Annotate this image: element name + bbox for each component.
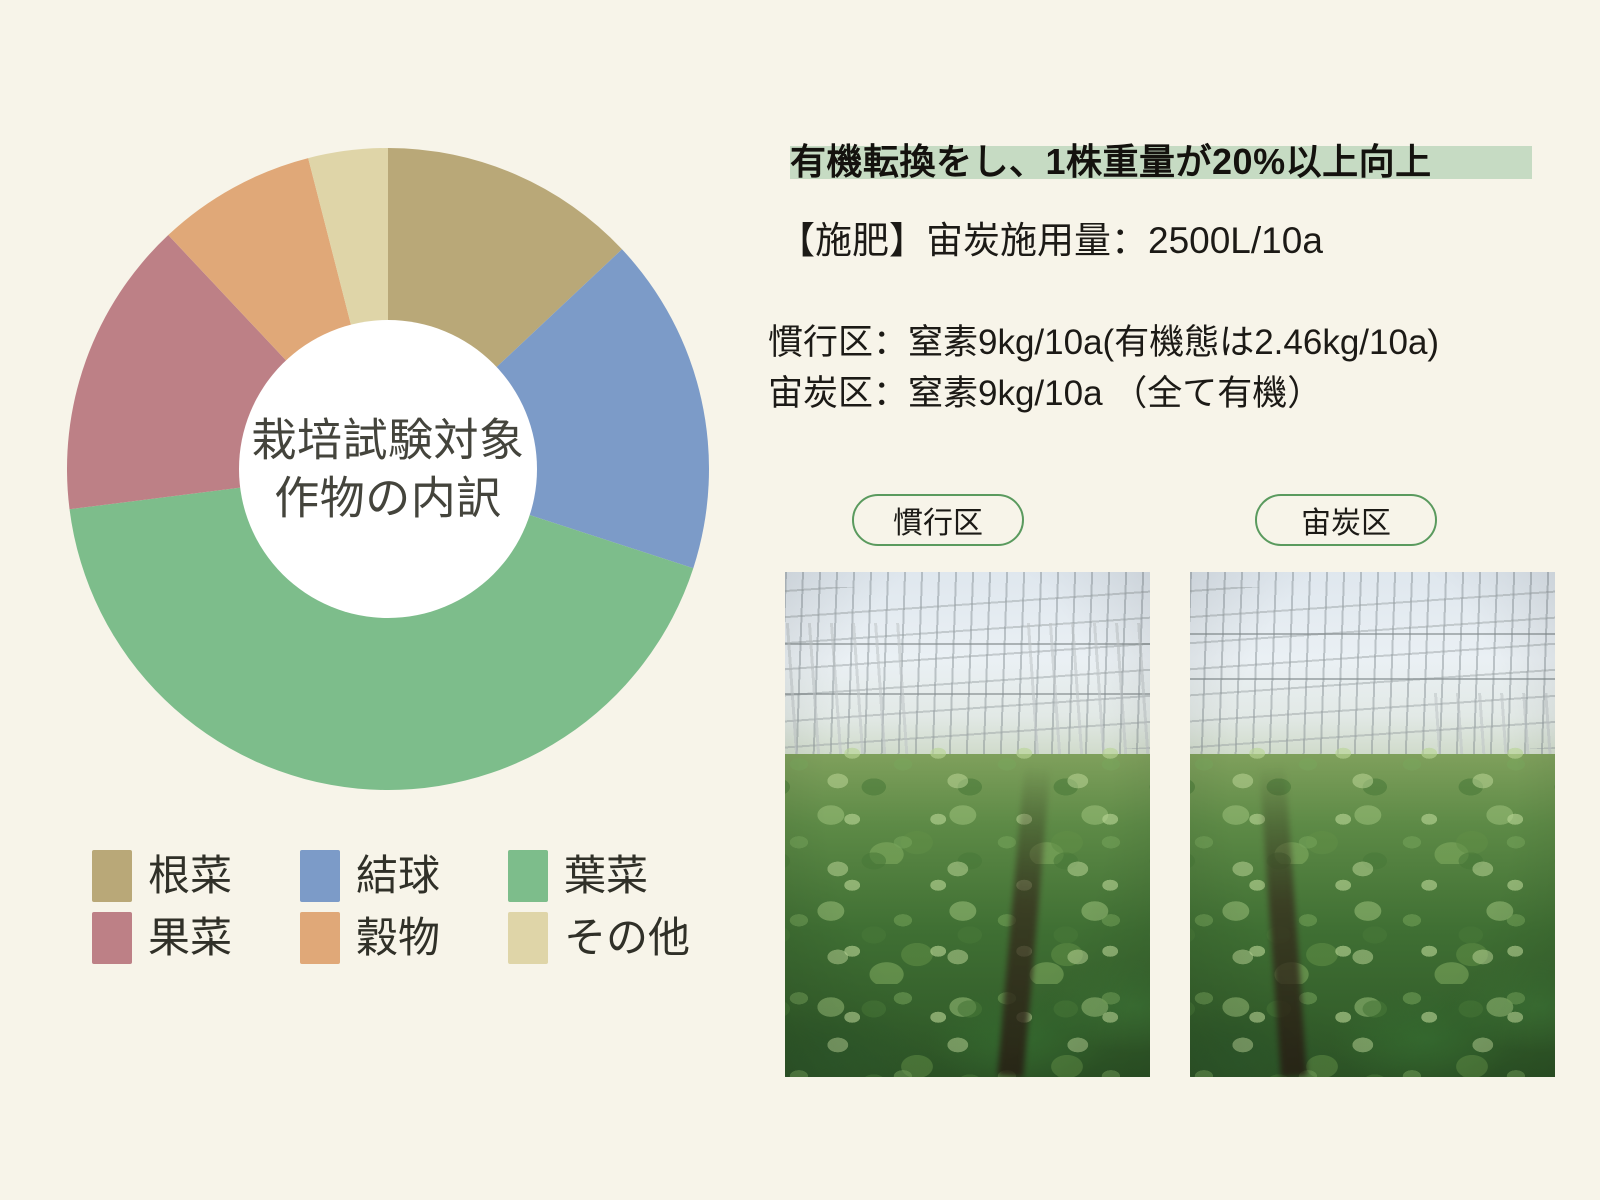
legend-swatch-icon: [300, 850, 340, 902]
legend-label: 結球: [356, 855, 440, 897]
plot-line-chutan: 宙炭区：窒素9kg/10a （全て有機）: [768, 369, 1439, 420]
legend-item-leafy-vegetable[interactable]: 葉菜: [508, 845, 708, 907]
plot-line-conventional: 慣行区：窒素9kg/10a(有機態は2.46kg/10a): [768, 318, 1439, 369]
donut-chart-svg: [67, 148, 709, 790]
legend-label: 果菜: [148, 917, 232, 959]
greenhouse-vignette: [785, 572, 1150, 1077]
greenhouse-illustration: [785, 572, 1150, 1077]
greenhouse-vignette: [1190, 572, 1555, 1077]
legend-item-heading-vegetable[interactable]: 結球: [300, 845, 508, 907]
legend-swatch-icon: [92, 850, 132, 902]
headline-text: 有機転換をし、1株重量が20%以上向上: [790, 133, 1432, 185]
legend-label: その他: [564, 917, 690, 959]
donut-hole: [239, 320, 537, 618]
plot-condition-block: 慣行区：窒素9kg/10a(有機態は2.46kg/10a) 宙炭区：窒素9kg/…: [768, 318, 1439, 420]
legend-item-other[interactable]: その他: [508, 907, 708, 969]
legend-item-root-vegetable[interactable]: 根菜: [92, 845, 300, 907]
photo-conventional-greenhouse: [785, 572, 1150, 1077]
legend-swatch-icon: [92, 912, 132, 964]
legend-label: 葉菜: [564, 855, 648, 897]
pill-label-conventional[interactable]: 慣行区: [852, 494, 1024, 546]
greenhouse-illustration: [1190, 572, 1555, 1077]
legend-swatch-icon: [300, 912, 340, 964]
legend-swatch-icon: [508, 912, 548, 964]
legend-swatch-icon: [508, 850, 548, 902]
legend-item-grain[interactable]: 穀物: [300, 907, 508, 969]
legend-label: 根菜: [148, 855, 232, 897]
results-panel: 有機転換をし、1株重量が20%以上向上 【施肥】宙炭施用量：2500L/10a …: [740, 0, 1600, 1200]
legend-item-fruit-vegetable[interactable]: 果菜: [92, 907, 300, 969]
legend-label: 穀物: [356, 917, 440, 959]
photo-chutan-greenhouse: [1190, 572, 1555, 1077]
donut-chart: 栽培試験対象 作物の内訳: [67, 148, 709, 790]
chart-legend: 根菜 結球 葉菜 果菜 穀物 その他: [92, 845, 702, 969]
fertilizer-line: 【施肥】宙炭施用量：2500L/10a: [778, 210, 1323, 264]
donut-chart-panel: 栽培試験対象 作物の内訳 根菜 結球 葉菜 果菜 穀物 その他: [0, 0, 740, 1200]
pill-label-chutan[interactable]: 宙炭区: [1255, 494, 1437, 546]
